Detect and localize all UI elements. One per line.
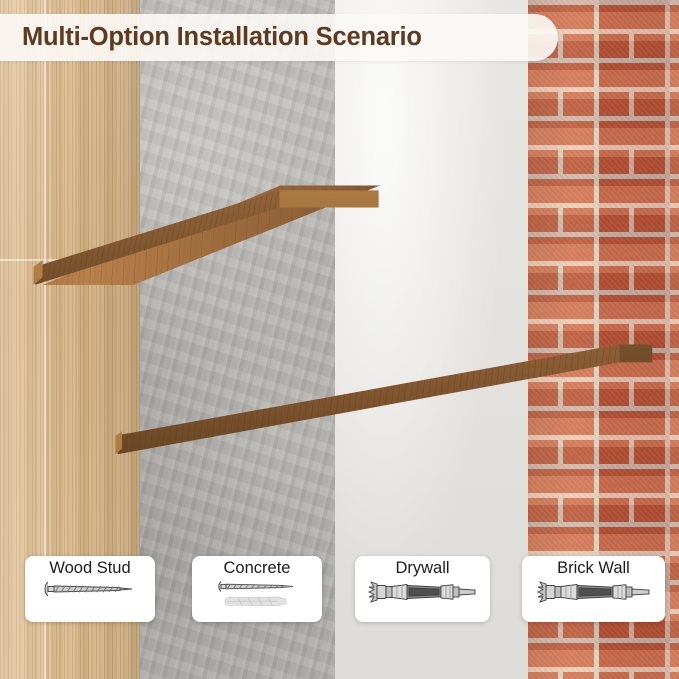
hardware-card-label: Brick Wall xyxy=(557,560,630,577)
upper-floating-shelf xyxy=(30,155,380,305)
wood-screw-icon xyxy=(216,580,298,593)
hardware-card-wood-stud[interactable]: Wood Stud xyxy=(25,556,155,622)
hardware-card-label: Concrete xyxy=(224,560,291,577)
product-image: Multi-Option Installation Scenario Wood … xyxy=(0,0,679,679)
hardware-card-icons xyxy=(216,580,298,609)
lower-floating-shelf xyxy=(110,330,655,465)
hardware-card-icons xyxy=(367,580,479,604)
plastic-wall-plug-icon xyxy=(216,594,298,609)
hardware-card-brick-wall[interactable]: Brick Wall xyxy=(522,556,665,622)
title-banner: Multi-Option Installation Scenario xyxy=(0,14,558,61)
hardware-card-icons xyxy=(535,580,653,604)
hardware-card-drywall[interactable]: Drywall xyxy=(355,556,490,622)
hardware-card-label: Drywall xyxy=(395,560,449,577)
metal-hollow-wall-anchor-icon xyxy=(367,580,479,604)
hardware-card-list: Wood Stud Concrete xyxy=(0,556,679,626)
metal-hollow-wall-anchor-icon xyxy=(535,580,653,604)
hardware-card-concrete[interactable]: Concrete xyxy=(192,556,322,622)
page-title: Multi-Option Installation Scenario xyxy=(0,23,422,52)
wood-screw-icon xyxy=(42,580,138,598)
hardware-card-icons xyxy=(42,580,138,598)
hardware-card-label: Wood Stud xyxy=(49,560,130,577)
lower-shelf-front-face xyxy=(110,330,655,465)
